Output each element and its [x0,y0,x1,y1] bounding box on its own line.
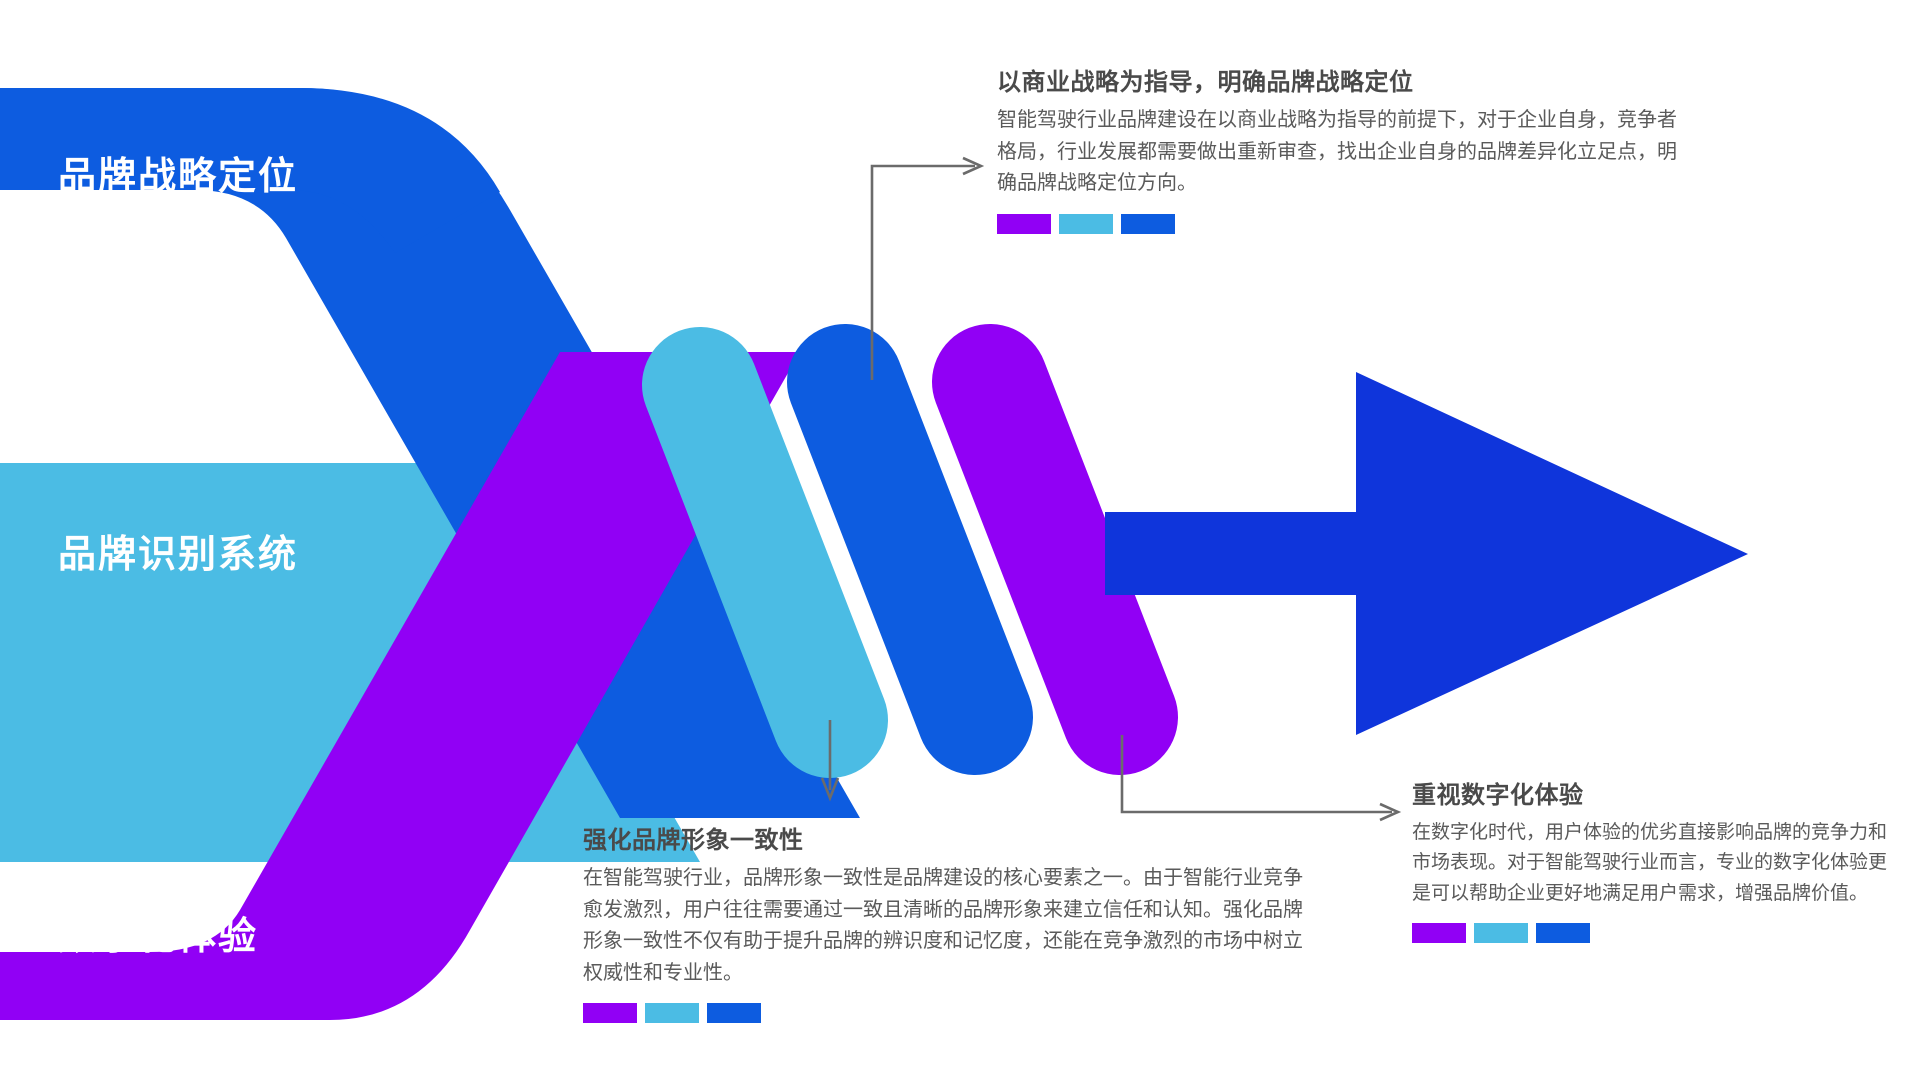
swatch-row-digital-experience [1412,923,1902,943]
callout-digital-experience: 重视数字化体验 在数字化时代，用户体验的优劣直接影响品牌的竞争力和市场表现。对于… [1412,775,1902,943]
callout-body-digital-experience: 在数字化时代，用户体验的优劣直接影响品牌的竞争力和市场表现。对于智能驾驶行业而言… [1412,818,1902,909]
arrow-shape [1105,372,1748,735]
swatch-blue [1121,214,1175,234]
callout-brand-strategy: 以商业战略为指导，明确品牌战略定位 智能驾驶行业品牌建设在以商业战略为指导的前提… [997,62,1687,234]
swatch-purple [1412,923,1466,943]
swatch-blue [707,1003,761,1023]
infographic-canvas: 品牌战略定位 品牌识别系统 数字化体验 以商业战略为指导，明确品牌战略定位 智能… [0,0,1920,1080]
band-shape-strategy-head [0,88,500,253]
callout-title-brand-strategy: 以商业战略为指导，明确品牌战略定位 [997,62,1687,97]
swatch-purple [997,214,1051,234]
swatch-cyan [1059,214,1113,234]
callout-title-brand-consistency: 强化品牌形象一致性 [583,820,1313,855]
callout-title-digital-experience: 重视数字化体验 [1412,775,1902,810]
callout-body-brand-consistency: 在智能驾驶行业，品牌形象一致性是品牌建设的核心要素之一。由于智能行业竞争愈发激烈… [583,863,1313,989]
callout-brand-consistency: 强化品牌形象一致性 在智能驾驶行业，品牌形象一致性是品牌建设的核心要素之一。由于… [583,820,1313,1023]
swatch-row-brand-strategy [997,214,1687,234]
swatch-cyan [1474,923,1528,943]
callout-body-brand-strategy: 智能驾驶行业品牌建设在以商业战略为指导的前提下，对于企业自身，竞争者格局，行业发… [997,105,1687,200]
swatch-row-brand-consistency [583,1003,1313,1023]
swatch-blue [1536,923,1590,943]
swatch-purple [583,1003,637,1023]
swatch-cyan [645,1003,699,1023]
